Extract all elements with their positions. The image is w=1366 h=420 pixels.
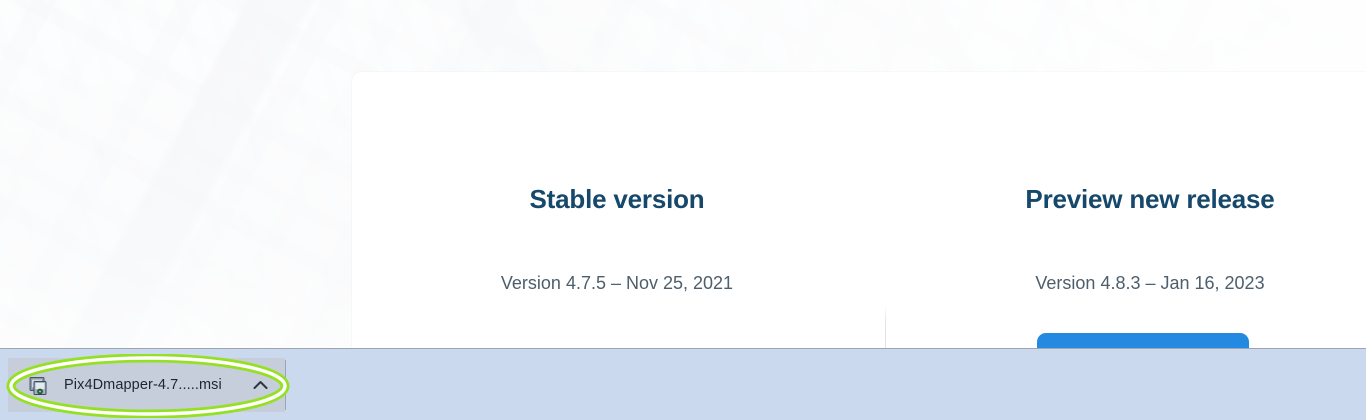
browser-download-bar: Pix4Dmapper-4.7.....msi (0, 348, 1366, 420)
preview-release-version-info: Version 4.8.3 – Jan 16, 2023 (885, 273, 1366, 295)
download-bar-separator (285, 360, 286, 410)
version-cards-panel: Stable version Version 4.7.5 – Nov 25, 2… (352, 72, 1366, 348)
screenshot-root: Stable version Version 4.7.5 – Nov 25, 2… (0, 0, 1366, 420)
download-item-filename: Pix4Dmapper-4.7.....msi (64, 358, 222, 412)
msi-installer-icon (28, 375, 50, 397)
column-stable-version: Stable version Version 4.7.5 – Nov 25, 2… (352, 72, 882, 348)
stable-version-title: Stable version (352, 184, 882, 215)
download-item-pix4dmapper[interactable]: Pix4Dmapper-4.7.....msi (8, 358, 285, 412)
chevron-up-icon[interactable] (253, 358, 268, 412)
column-preview-release: Preview new release Version 4.8.3 – Jan … (885, 72, 1366, 348)
stable-version-release-info: Version 4.7.5 – Nov 25, 2021 (352, 273, 882, 295)
preview-release-title: Preview new release (885, 184, 1366, 215)
